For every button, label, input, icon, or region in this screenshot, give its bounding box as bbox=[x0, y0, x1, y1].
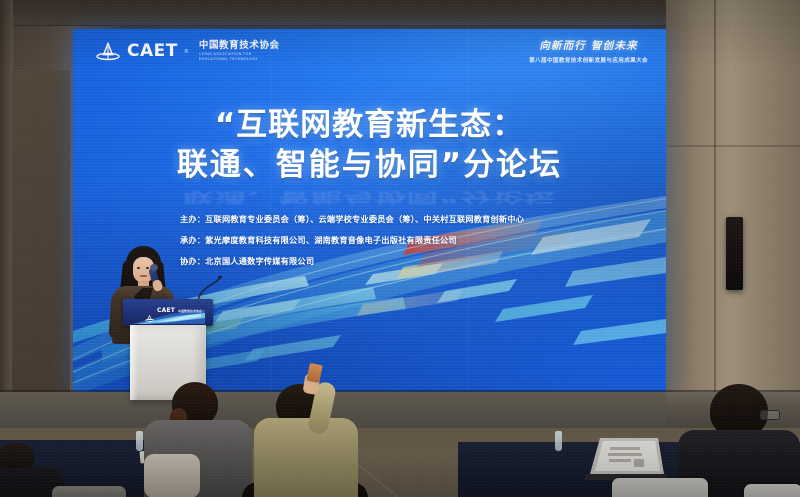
podium-caet-acronym: CAET bbox=[157, 307, 175, 314]
podium-panel: CAET 中国教育技术协会 bbox=[123, 299, 213, 326]
attendee-photographing bbox=[250, 376, 370, 496]
eyeglasses-icon bbox=[760, 410, 780, 420]
credit-host: 主办：互联网教育专业委员会（筹）、云端学校专业委员会（筹）、中关村互联网教育创新… bbox=[180, 209, 524, 230]
caet-emblem-icon bbox=[95, 42, 121, 62]
chair bbox=[52, 486, 126, 497]
caet-wordmark: CAET bbox=[127, 43, 178, 60]
smartphone-icon bbox=[306, 363, 322, 383]
wall-right-seam-horizontal bbox=[666, 145, 800, 147]
caet-logo: CAET ® 中国教育技术协会 CHINA ASSOCIATION FOR ED… bbox=[95, 41, 280, 63]
podium-caet-chinese: 中国教育技术协会 bbox=[178, 309, 202, 313]
wall-right-seam bbox=[714, 0, 716, 420]
attendee-ponytail bbox=[142, 382, 254, 497]
audience-foreground bbox=[0, 398, 800, 497]
attendee-bag bbox=[144, 454, 200, 497]
chair bbox=[744, 484, 800, 497]
conference-subtitle: 第八届中国教育技术创新发展与应用成果大会 bbox=[529, 56, 648, 64]
credit-coorganizer: 协办：北京国人通数字传媒有限公司 bbox=[180, 251, 524, 272]
conference-slogan: 向新而行 智创未来 bbox=[529, 38, 648, 53]
caet-chinese-name: 中国教育技术协会 bbox=[199, 41, 280, 52]
wall-right bbox=[666, 0, 800, 420]
forum-title-line1: “互联网教育新生态： bbox=[215, 107, 524, 143]
caet-english-line2: EDUCATIONAL TECHNOLOGY bbox=[199, 57, 280, 62]
chair bbox=[612, 478, 708, 497]
conference-photo: CAET ® 中国教育技术协会 CHINA ASSOCIATION FOR ED… bbox=[0, 0, 800, 497]
wall-left-panel bbox=[12, 70, 70, 400]
wall-loudspeaker-icon bbox=[726, 217, 743, 290]
podium-caet-emblem-icon bbox=[145, 307, 154, 314]
caet-chinese-block: 中国教育技术协会 CHINA ASSOCIATION FOR EDUCATION… bbox=[199, 41, 280, 63]
laptop bbox=[584, 436, 668, 480]
forum-title-line2: 联通、智能与协同”分论坛 bbox=[73, 145, 666, 185]
speaker-eye-right bbox=[146, 267, 149, 269]
podium-caet-logo: CAET 中国教育技术协会 bbox=[145, 307, 202, 314]
forum-title: “互联网教育新生态： 联通、智能与协同”分论坛 bbox=[73, 105, 666, 186]
registered-mark: ® bbox=[184, 49, 189, 55]
microphone-head-icon bbox=[150, 264, 158, 271]
conference-slogan-block: 向新而行 智创未来 第八届中国教育技术创新发展与应用成果大会 bbox=[529, 38, 648, 64]
credit-organizer: 承办：紫光摩度教育科技有限公司、湖南教育音像电子出版社有限责任公司 bbox=[180, 230, 524, 251]
speaker-eye-left bbox=[137, 267, 140, 269]
water-bottle bbox=[555, 431, 562, 451]
organizer-credits: 主办：互联网教育专业委员会（筹）、云端学校专业委员会（筹）、中关村互联网教育创新… bbox=[180, 209, 524, 272]
attendee-body bbox=[254, 418, 358, 497]
caet-acronym: CAET bbox=[127, 43, 178, 60]
